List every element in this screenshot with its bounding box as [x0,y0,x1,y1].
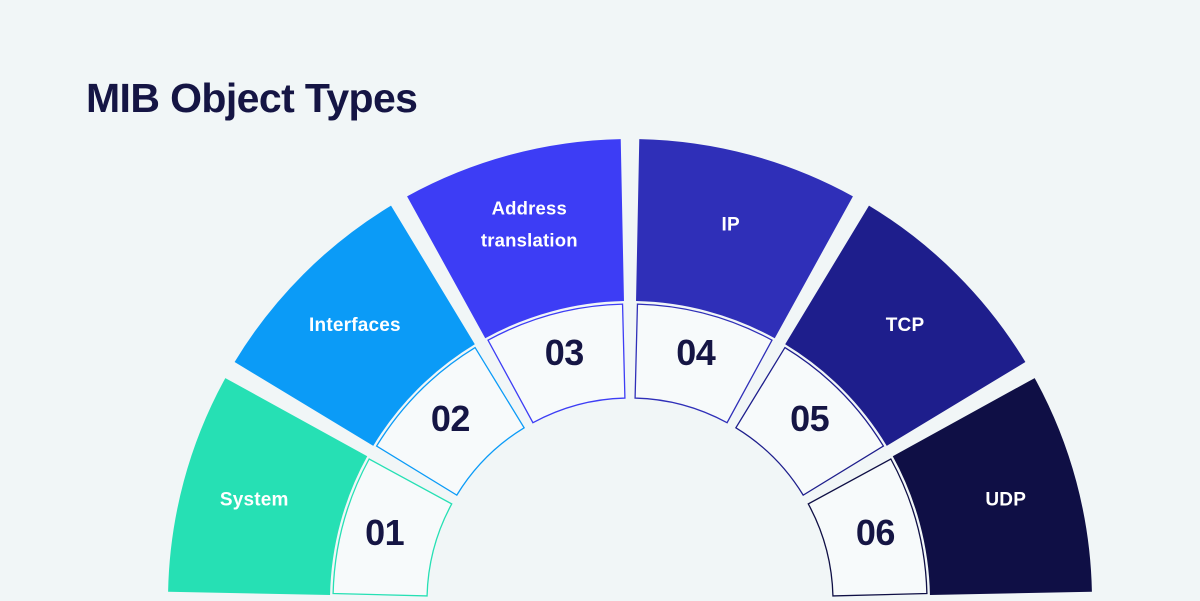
segment-label-04: IP [722,214,740,235]
segment-number-06: 06 [856,512,895,553]
segment-label-01: System [220,489,289,510]
segment-number-01: 01 [365,512,405,553]
outer-segment-ring [168,139,1092,595]
segment-number-04: 04 [676,332,716,373]
segment-number-05: 05 [790,398,830,439]
segment-label-05: TCP [886,315,925,336]
segment-number-03: 03 [545,332,584,373]
infographic-canvas: MIB Object Types SystemInterfacesAddress… [0,0,1200,601]
segment-number-02: 02 [431,398,470,439]
segment-label-06: UDP [985,489,1026,510]
segment-label-02: Interfaces [309,315,401,336]
half-donut-chart: SystemInterfacesAddresstranslationIPTCPU… [0,0,1200,601]
